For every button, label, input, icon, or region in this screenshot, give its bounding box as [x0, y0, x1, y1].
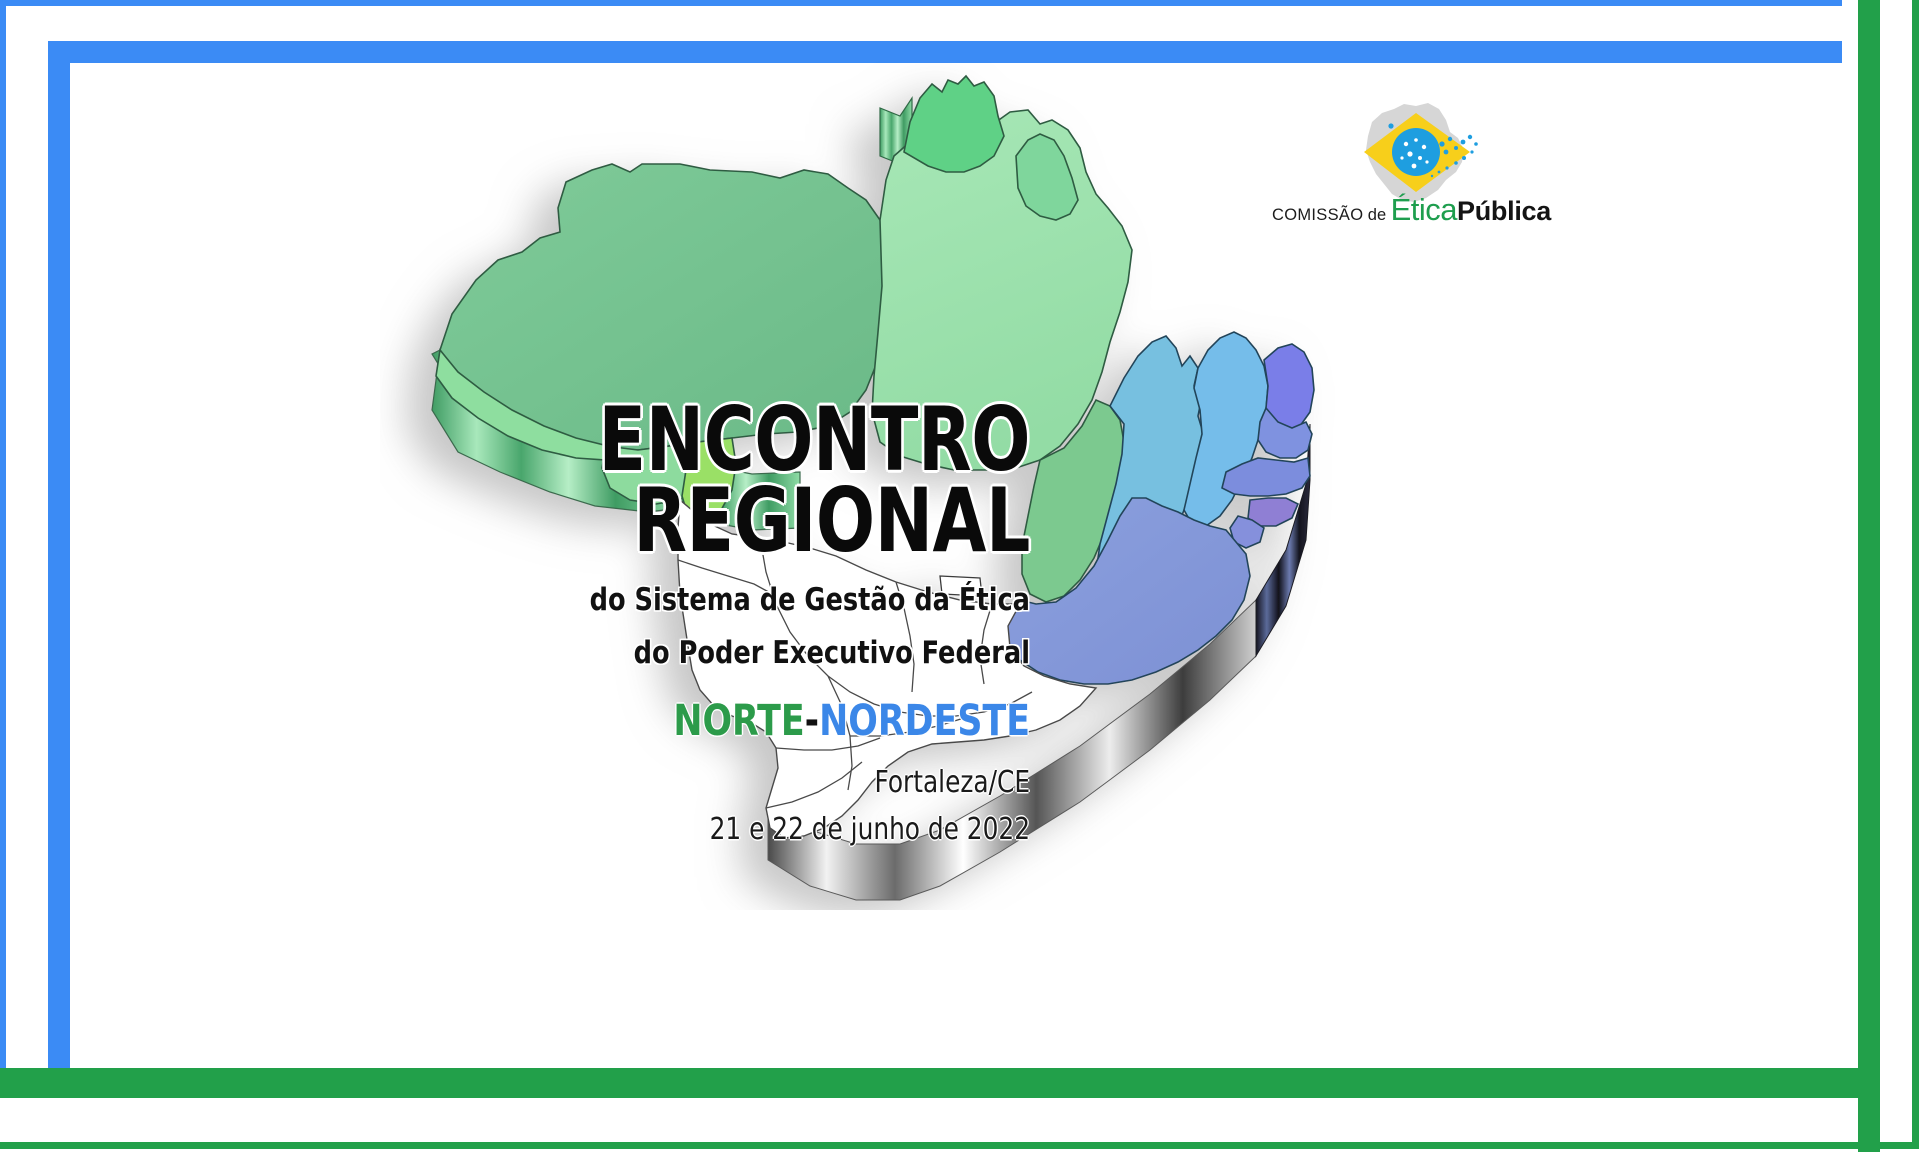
frame-blue-outer-left [0, 0, 6, 1096]
frame-green-outer-right [1912, 0, 1919, 1146]
region-nordeste: NORDESTE [819, 696, 1030, 746]
brazil-flag-map-mark-icon [1346, 100, 1488, 206]
frame-green-inner-bottom [0, 1068, 1880, 1098]
logo-wordmark: COMISSÃO de ÉticaPública [1272, 192, 1551, 228]
frame-green-outer-bottom [0, 1142, 1919, 1149]
poster-text-block: ENCONTRO REGIONAL do Sistema de Gestão d… [470, 400, 1030, 850]
event-date: 21 e 22 de junho de 2022 [515, 810, 1030, 851]
subtitle-line-2: do Poder Executivo Federal [515, 631, 1030, 676]
frame-blue-inner-left [48, 41, 70, 1096]
frame-green-inner-right [1858, 0, 1880, 1152]
event-location: Fortaleza/CE [515, 763, 1030, 804]
map-region-roraima [904, 76, 1004, 172]
comissao-de-etica-publica-logo: COMISSÃO de ÉticaPública [1272, 100, 1532, 230]
logo-text-comissao: COMISSÃO [1272, 206, 1363, 224]
logo-text-de: de [1368, 206, 1386, 224]
frame-blue-outer-top [0, 0, 1842, 6]
logo-text-etica: Ética [1391, 192, 1457, 227]
region-separator: - [805, 696, 819, 746]
region-norte: NORTE [673, 696, 804, 746]
subtitle-line-1: do Sistema de Gestão da Ética [515, 578, 1030, 623]
logo-text-publica: Pública [1457, 196, 1551, 226]
page-title-line-2: REGIONAL [537, 481, 1030, 562]
region-label: NORTE-NORDESTE [526, 698, 1030, 745]
